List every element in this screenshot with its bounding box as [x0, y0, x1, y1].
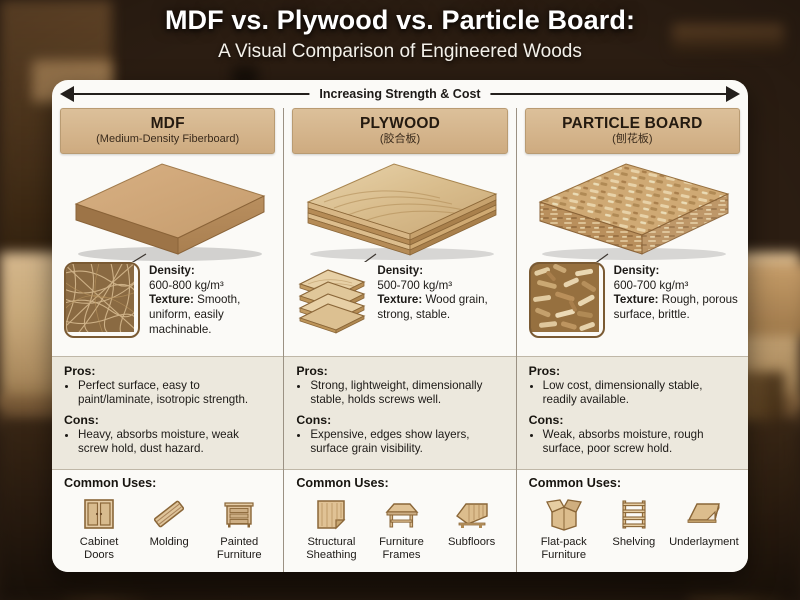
flat-pack-furniture-icon [529, 493, 599, 535]
underlayment-icon [669, 493, 739, 535]
common-uses-label: Common Uses: [529, 476, 739, 490]
pros-label: Pros: [64, 364, 272, 378]
common-uses-label: Common Uses: [64, 476, 274, 490]
column-title: PLYWOOD [360, 116, 440, 132]
use-label: Subfloors [437, 536, 507, 549]
list-item: Weak, absorbs moisture, rough surface, p… [543, 428, 737, 457]
furniture-frames-icon [366, 493, 436, 535]
use-item[interactable]: Subfloors [437, 493, 507, 549]
pros-label: Pros: [296, 364, 504, 378]
columns-container: MDF (Medium-Density Fiberboard) [52, 108, 748, 572]
arrow-right-icon [726, 86, 740, 102]
use-label: Flat-pack Furniture [529, 536, 599, 562]
plywood-specs: Density: 500-700 kg/m³ Texture: Wood gra… [284, 262, 515, 356]
structural-sheathing-icon [296, 493, 366, 535]
column-particle-board[interactable]: PARTICLE BOARD (刨花板) [516, 108, 748, 572]
particleboard-spec-text: Density: 600-700 kg/m³ Texture: Rough, p… [614, 262, 738, 323]
list-item: Strong, lightweight, dimensionally stabl… [310, 379, 504, 408]
particleboard-pros-cons: Pros: Low cost, dimensionally stable, re… [517, 356, 748, 470]
density-label: Density: [377, 264, 423, 277]
use-label: Underlayment [669, 536, 739, 549]
list-item: Low cost, dimensionally stable, readily … [543, 379, 737, 408]
infographic-stage: MDF vs. Plywood vs. Particle Board: A Vi… [0, 0, 800, 600]
mdf-specs: Density: 600-800 kg/m³ Texture: Smooth, … [52, 262, 283, 356]
column-header-particle-board: PARTICLE BOARD (刨花板) [525, 108, 740, 154]
list-item: Heavy, absorbs moisture, weak screw hold… [78, 428, 272, 457]
cons-label: Cons: [296, 413, 504, 427]
use-label: Structural Sheathing [296, 536, 366, 562]
particleboard-density-value: 600-700 kg/m³ [614, 279, 689, 292]
particleboard-specs: Density: 600-700 kg/m³ Texture: Rough, p… [517, 262, 748, 356]
mdf-board-illustration [52, 154, 283, 262]
pros-label: Pros: [529, 364, 737, 378]
page-title: MDF vs. Plywood vs. Particle Board: [0, 6, 800, 36]
column-subtitle: (Medium-Density Fiberboard) [96, 134, 239, 146]
plywood-pros-list: Strong, lightweight, dimensionally stabl… [296, 379, 504, 408]
use-label: Cabinet Doors [64, 536, 134, 562]
use-item[interactable]: Structural Sheathing [296, 493, 366, 562]
use-item[interactable]: Underlayment [669, 493, 739, 549]
mdf-pros-list: Perfect surface, easy to paint/laminate,… [64, 379, 272, 408]
plywood-board-illustration [284, 154, 515, 262]
shelving-icon [599, 493, 669, 535]
mdf-density-value: 600-800 kg/m³ [149, 279, 224, 292]
particle-chips-swatch-icon [529, 262, 605, 338]
subfloors-icon [437, 493, 507, 535]
use-label: Furniture Frames [366, 536, 436, 562]
axis-label: Increasing Strength & Cost [309, 87, 490, 101]
column-header-plywood: PLYWOOD (胶合板) [292, 108, 507, 154]
particleboard-cons-list: Weak, absorbs moisture, rough surface, p… [529, 428, 737, 457]
density-label: Density: [614, 264, 660, 277]
page-subtitle: A Visual Comparison of Engineered Woods [0, 41, 800, 63]
particleboard-pros-list: Low cost, dimensionally stable, readily … [529, 379, 737, 408]
column-plywood[interactable]: PLYWOOD (胶合板) [283, 108, 515, 572]
plywood-common-uses: Common Uses: [284, 470, 515, 572]
use-label: Shelving [599, 536, 669, 549]
particleboard-common-uses: Common Uses: Flat-pack [517, 470, 748, 572]
mdf-spec-text: Density: 600-800 kg/m³ Texture: Smooth, … [149, 262, 273, 338]
use-item[interactable]: Flat-pack Furniture [529, 493, 599, 562]
particleboard-board-icon [522, 158, 742, 262]
column-subtitle: (刨花板) [612, 134, 652, 146]
column-title: PARTICLE BOARD [562, 116, 702, 132]
plywood-board-icon [290, 158, 510, 262]
texture-label: Texture: [149, 293, 194, 306]
use-item[interactable]: Furniture Frames [366, 493, 436, 562]
use-item[interactable]: Painted Furniture [204, 493, 274, 562]
mdf-fiber-swatch-icon [64, 262, 140, 338]
painted-furniture-icon [204, 493, 274, 535]
plywood-layers-swatch-icon [296, 262, 368, 334]
mdf-common-uses: Common Uses: Cabinet D [52, 470, 283, 572]
plywood-spec-text: Density: 500-700 kg/m³ Texture: Wood gra… [377, 262, 505, 323]
texture-label: Texture: [377, 293, 422, 306]
molding-icon [134, 493, 204, 535]
plywood-cons-list: Expensive, edges show layers, surface gr… [296, 428, 504, 457]
use-item[interactable]: Cabinet Doors [64, 493, 134, 562]
density-label: Density: [149, 264, 195, 277]
column-header-mdf: MDF (Medium-Density Fiberboard) [60, 108, 275, 154]
comparison-card: Increasing Strength & Cost MDF (Medium-D… [52, 80, 748, 572]
plywood-pros-cons: Pros: Strong, lightweight, dimensionally… [284, 356, 515, 470]
plywood-density-value: 500-700 kg/m³ [377, 279, 452, 292]
cabinet-doors-icon [64, 493, 134, 535]
mdf-board-icon [58, 158, 278, 262]
cons-label: Cons: [529, 413, 737, 427]
title-block: MDF vs. Plywood vs. Particle Board: A Vi… [0, 6, 800, 63]
column-title: MDF [151, 116, 185, 132]
common-uses-label: Common Uses: [296, 476, 506, 490]
use-item[interactable]: Shelving [599, 493, 669, 549]
use-label: Molding [134, 536, 204, 549]
mdf-pros-cons: Pros: Perfect surface, easy to paint/lam… [52, 356, 283, 470]
list-item: Perfect surface, easy to paint/laminate,… [78, 379, 272, 408]
particleboard-board-illustration [517, 154, 748, 262]
texture-label: Texture: [614, 293, 659, 306]
strength-cost-axis: Increasing Strength & Cost [52, 80, 748, 108]
column-mdf[interactable]: MDF (Medium-Density Fiberboard) [52, 108, 283, 572]
arrow-left-icon [60, 86, 74, 102]
use-label: Painted Furniture [204, 536, 274, 562]
use-item[interactable]: Molding [134, 493, 204, 549]
mdf-cons-list: Heavy, absorbs moisture, weak screw hold… [64, 428, 272, 457]
list-item: Expensive, edges show layers, surface gr… [310, 428, 504, 457]
column-subtitle: (胶合板) [380, 134, 420, 146]
cons-label: Cons: [64, 413, 272, 427]
